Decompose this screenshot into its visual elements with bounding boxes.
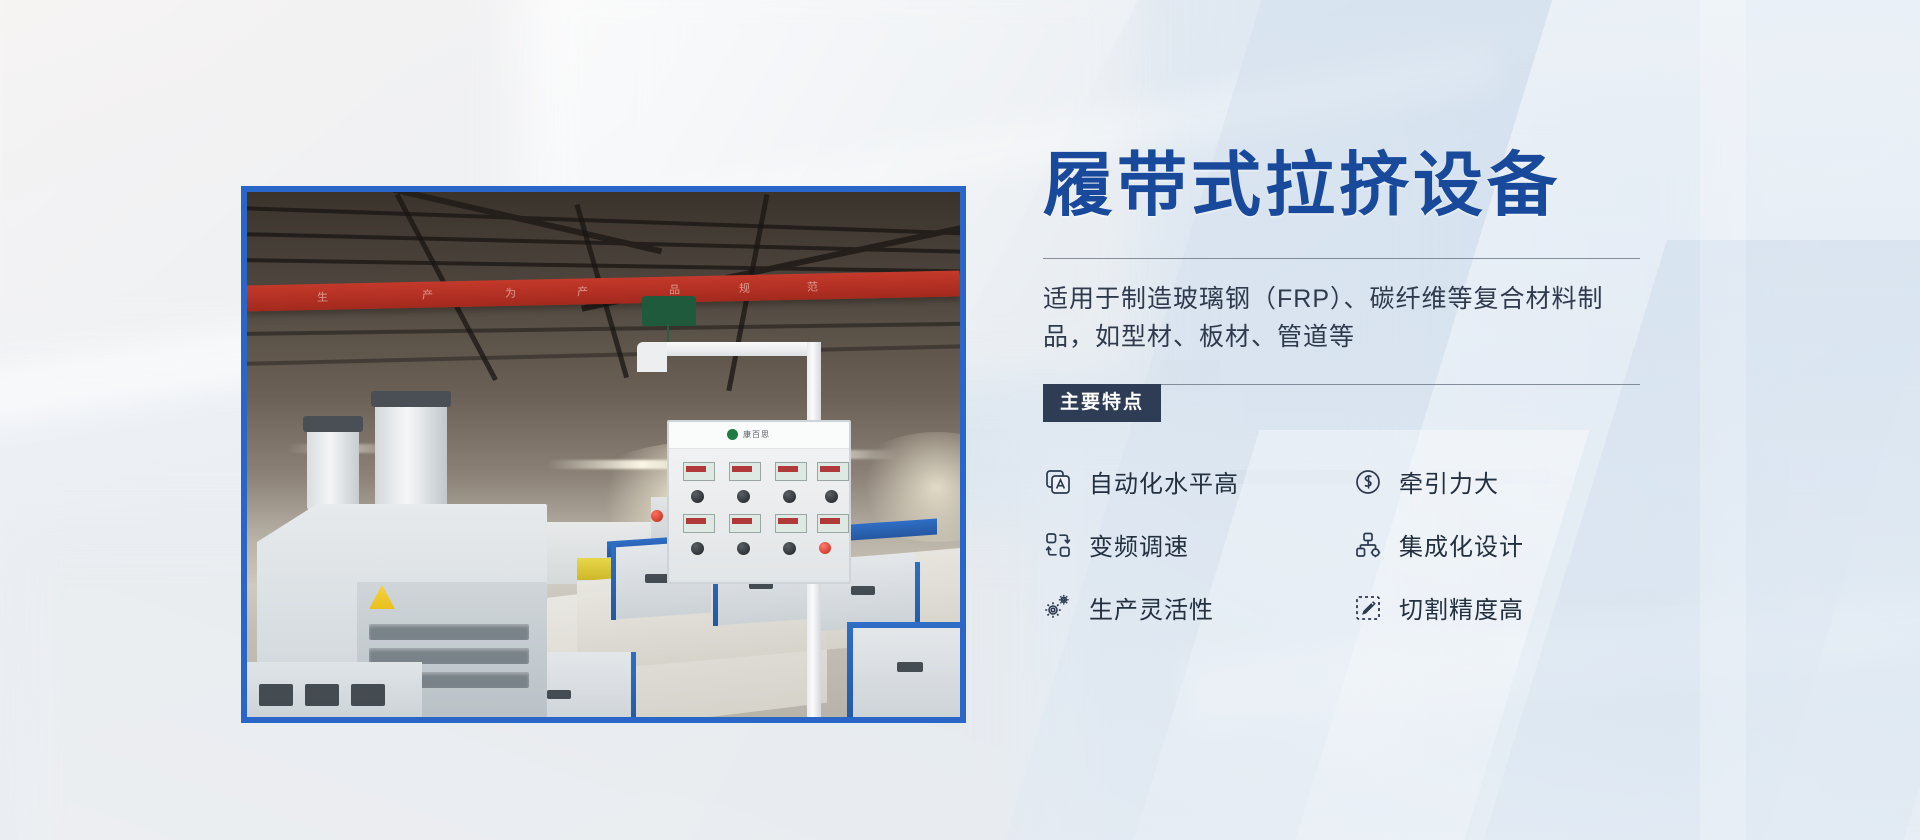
page-title: 履带式拉挤设备 [1043, 150, 1683, 220]
feature-item-cutting: 切割精度高 [1353, 590, 1663, 625]
feature-label: 变频调速 [1089, 527, 1189, 562]
feature-item-frequency: 变频调速 [1043, 527, 1353, 562]
feature-item-integrated: 集成化设计 [1353, 527, 1663, 562]
features-heading-row: 主要特点 [1043, 384, 1640, 420]
control-panel: 康百思 [667, 420, 851, 584]
feature-list: 自动化水平高 牵引力大 [1043, 464, 1683, 625]
traction-force-icon [1353, 467, 1383, 497]
feature-label: 切割精度高 [1399, 590, 1524, 625]
feature-item-flexibility: 生产灵活性 [1043, 590, 1353, 625]
frequency-control-icon [1043, 530, 1073, 560]
feature-item-traction: 牵引力大 [1353, 464, 1663, 499]
cutting-precision-icon [1353, 593, 1383, 623]
feature-label: 自动化水平高 [1089, 464, 1239, 499]
production-flexibility-icon [1043, 593, 1073, 623]
feature-item-automation: 自动化水平高 [1043, 464, 1353, 499]
hero-content: 履带式拉挤设备 适用于制造玻璃钢（FRP）、碳纤维等复合材料制品，如型材、板材、… [1043, 150, 1683, 625]
automation-level-icon [1043, 467, 1073, 497]
feature-label: 集成化设计 [1399, 527, 1524, 562]
feature-label: 牵引力大 [1399, 464, 1499, 499]
hero-subtitle: 适用于制造玻璃钢（FRP）、碳纤维等复合材料制品，如型材、板材、管道等 [1043, 281, 1643, 356]
product-photo: 生 产 为 产 品 规 范 [241, 186, 966, 723]
feature-label: 生产灵活性 [1089, 590, 1214, 625]
title-divider [1043, 258, 1640, 259]
integrated-design-icon [1353, 530, 1383, 560]
status-badge: 主要特点 [1043, 384, 1161, 422]
product-hero-banner: 生 产 为 产 品 规 范 [0, 0, 1920, 840]
